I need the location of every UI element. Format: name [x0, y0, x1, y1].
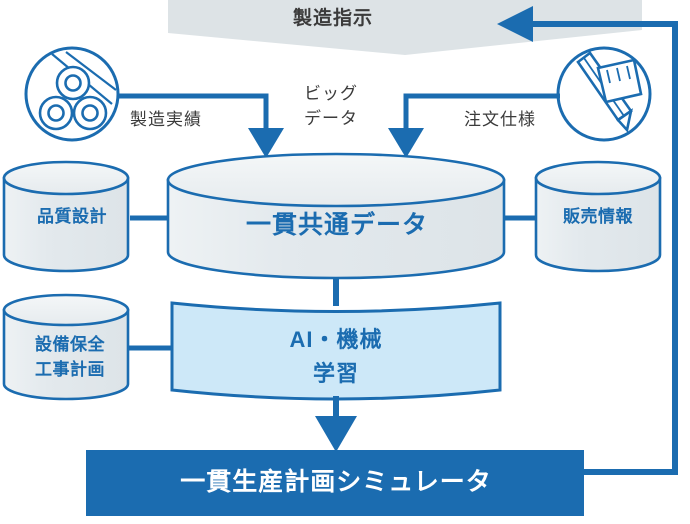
- ai-machine-learning-box: [172, 303, 500, 399]
- steel-coils-icon: [26, 48, 118, 140]
- diagram-canvas: [0, 0, 690, 524]
- cylinder-equipment-maintenance-plan: [4, 295, 128, 399]
- manufacturing-record-connector: [118, 96, 266, 132]
- order-spec-connector: [406, 96, 560, 132]
- cylinder-integrated-common-data: [168, 154, 504, 278]
- integrated-production-simulator-box: [86, 450, 584, 516]
- cylinder-quality-design: [4, 162, 128, 271]
- cylinder-sales-information: [536, 162, 660, 271]
- process-flow-diagram: 製造指示 製造実績 ビッグ データ 注文仕様 品質設計 一貫共通データ 販売情報…: [0, 0, 690, 524]
- order-spec-arrowhead-icon: [388, 128, 424, 158]
- ai-to-simulator-arrowhead-icon: [315, 416, 357, 452]
- manufacturing-record-arrowhead-icon: [248, 128, 284, 158]
- pencil-ruler-icon: [558, 48, 650, 140]
- manufacturing-instruction-banner: [168, 0, 642, 55]
